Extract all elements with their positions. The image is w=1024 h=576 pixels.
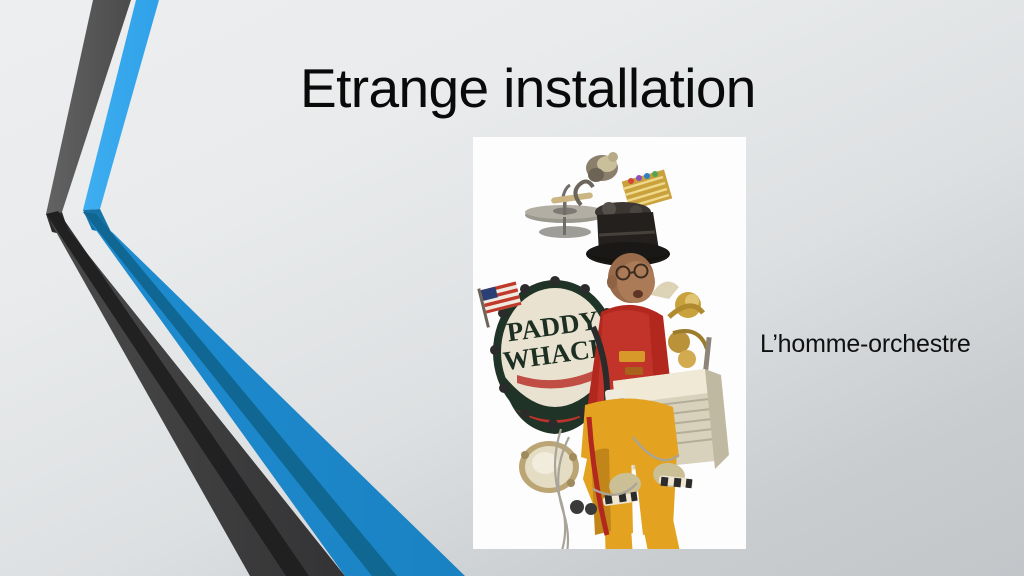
presentation-slide: Etrange installation xyxy=(0,0,1024,576)
one-man-band-photo: PADDY WHACK xyxy=(473,137,746,549)
picture-placeholder[interactable]: PADDY WHACK xyxy=(473,137,746,549)
picture-caption: L’homme-orchestre xyxy=(760,330,1020,359)
slide-title: Etrange installation xyxy=(300,58,920,120)
tambourine xyxy=(519,441,579,493)
